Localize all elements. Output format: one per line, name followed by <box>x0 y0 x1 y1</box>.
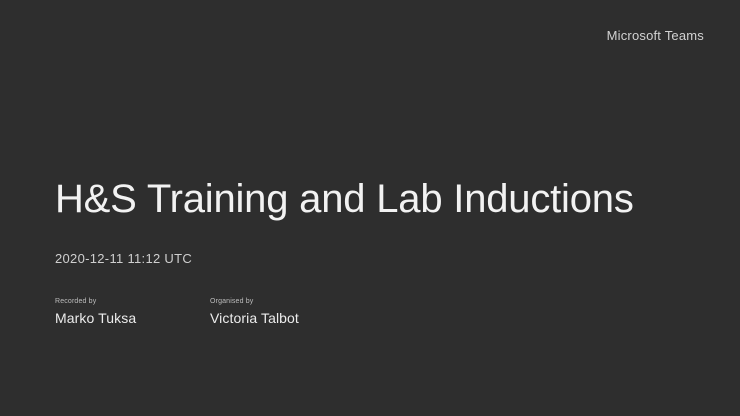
microsoft-teams-brand-label: Microsoft Teams <box>607 28 704 43</box>
slide-content-block: H&S Training and Lab Inductions 2020-12-… <box>55 178 700 326</box>
credit-name: Marko Tuksa <box>55 310 210 327</box>
recording-timestamp: 2020-12-11 11:12 UTC <box>55 251 700 266</box>
credit-organised-by: Organised by Victoria Talbot <box>210 298 365 326</box>
credit-label: Organised by <box>210 298 365 306</box>
credit-label: Recorded by <box>55 298 210 306</box>
credits-row: Recorded by Marko Tuksa Organised by Vic… <box>55 298 700 326</box>
recording-title-slide: Microsoft Teams H&S Training and Lab Ind… <box>0 0 740 416</box>
page-title: H&S Training and Lab Inductions <box>55 178 700 221</box>
credit-recorded-by: Recorded by Marko Tuksa <box>55 298 210 326</box>
credit-name: Victoria Talbot <box>210 310 365 327</box>
